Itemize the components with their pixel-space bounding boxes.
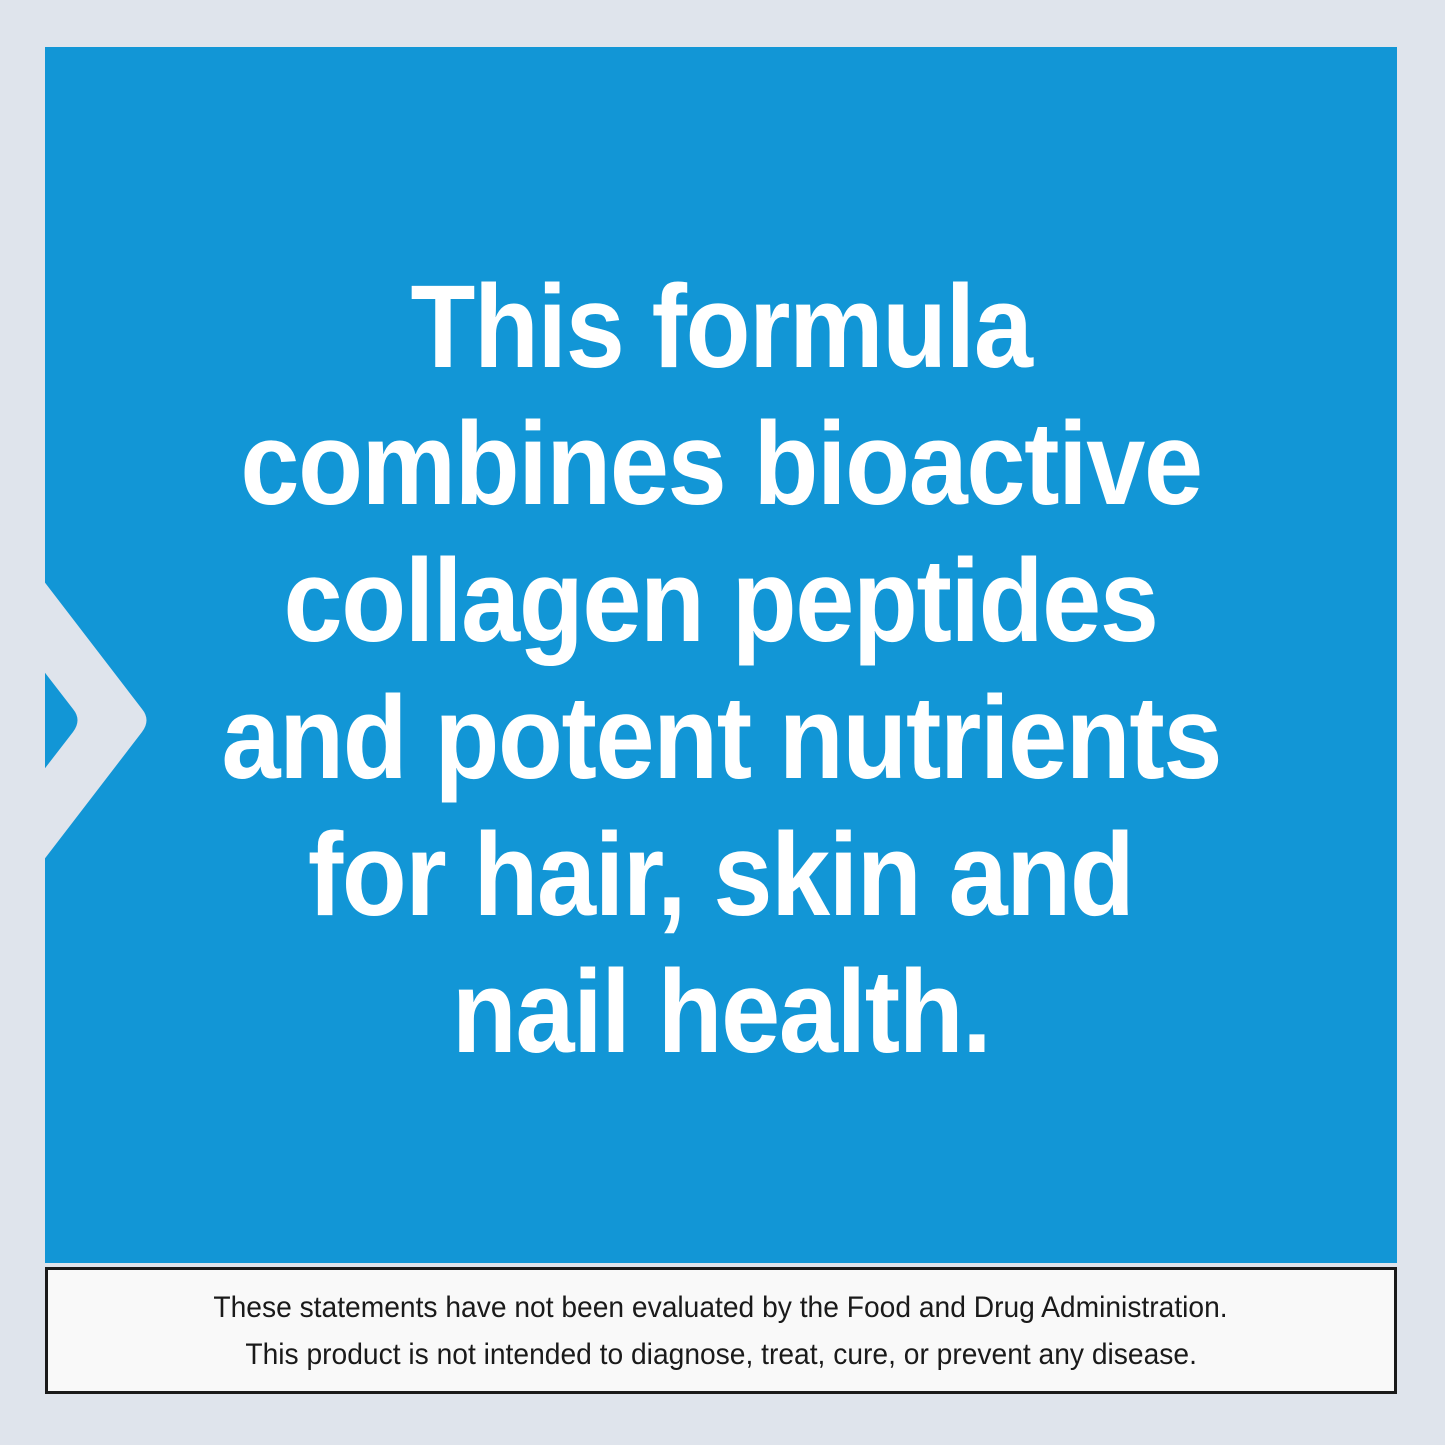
- hero-panel: [45, 47, 1397, 1263]
- disclaimer-line-2: This product is not intended to diagnose…: [245, 1331, 1197, 1378]
- page-canvas: This formula combines bioactive collagen…: [0, 0, 1445, 1445]
- fda-disclaimer-box: These statements have not been evaluated…: [45, 1267, 1397, 1394]
- disclaimer-line-1: These statements have not been evaluated…: [214, 1284, 1228, 1331]
